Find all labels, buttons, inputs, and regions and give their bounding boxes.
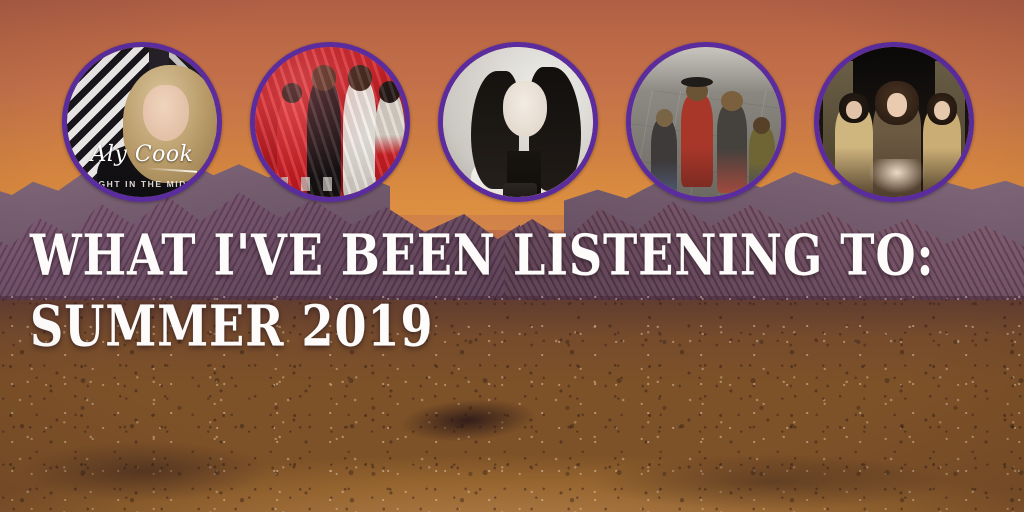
photo-circle-3[interactable]	[438, 42, 598, 202]
photo-circle-4[interactable]	[626, 42, 786, 202]
photo-circle-row: Aly Cook CAUGHT IN THE MIDDLE	[0, 0, 1024, 230]
band-member-3-head	[721, 91, 743, 111]
musician-1-face	[846, 101, 862, 119]
wide-brim-hat	[681, 77, 713, 87]
red-satin-sheen	[255, 47, 405, 197]
musician-2-face	[887, 93, 907, 117]
photo-4-image	[631, 47, 781, 197]
photo-2-image	[255, 47, 405, 197]
photo-circle-2[interactable]	[250, 42, 410, 202]
photo-1-subcaption: CAUGHT IN THE MIDDLE	[67, 179, 217, 189]
band-member-4-head	[753, 117, 770, 134]
camera-prop	[503, 183, 537, 197]
subject-face	[503, 81, 547, 137]
photo-3-image	[443, 47, 593, 197]
photo-1-caption: Aly Cook	[67, 142, 217, 167]
subject-face	[143, 85, 189, 141]
band-member-3	[717, 105, 747, 193]
musician-hands	[869, 159, 925, 193]
band-member-1-head	[656, 109, 673, 127]
photo-5-image	[819, 47, 969, 197]
band-member-2	[681, 95, 713, 187]
banner-title: WHAT I'VE BEEN LISTENING TO: SUMMER 2019	[30, 228, 990, 344]
photo-circle-1[interactable]: Aly Cook CAUGHT IN THE MIDDLE	[62, 42, 222, 202]
musician-3-face	[934, 101, 950, 120]
title-line-2: SUMMER 2019	[30, 299, 990, 354]
photo-circle-5[interactable]	[814, 42, 974, 202]
banner-graphic: Aly Cook CAUGHT IN THE MIDDLE	[0, 0, 1024, 512]
rock-shadow-left	[10, 438, 310, 512]
title-line-1: WHAT I'VE BEEN LISTENING TO:	[30, 228, 990, 283]
rock-shadow-right	[560, 452, 980, 512]
photo-1-image: Aly Cook CAUGHT IN THE MIDDLE	[67, 47, 217, 197]
band-member-1	[651, 119, 677, 197]
band-member-4	[749, 127, 775, 197]
